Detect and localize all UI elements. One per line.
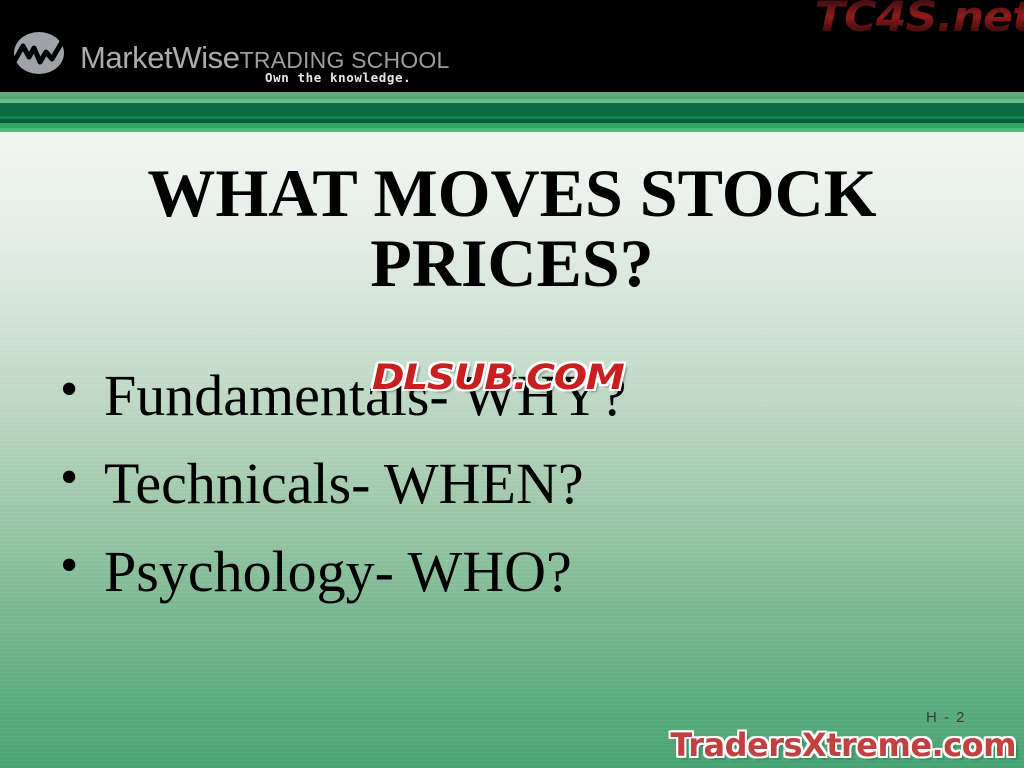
list-item: Psychology- WHO? bbox=[56, 528, 986, 616]
tc4s-watermark: TC4S.net bbox=[814, 0, 1024, 38]
marketwise-chart-logo-icon bbox=[12, 30, 66, 76]
green-stripe-divider bbox=[0, 92, 1024, 136]
page-number: H - 2 bbox=[926, 709, 966, 726]
brand-primary: MarketWise bbox=[80, 40, 240, 75]
presentation-slide: MarketWiseTRADING SCHOOL Own the knowled… bbox=[0, 0, 1024, 768]
page-title: WHAT MOVES STOCK PRICES? bbox=[60, 158, 964, 298]
tradersxtreme-watermark: TradersXtreme.com bbox=[670, 726, 1016, 764]
brand-tagline: Own the knowledge. bbox=[265, 70, 411, 85]
dlsub-watermark: DLSUB.COM bbox=[372, 358, 623, 398]
slide-header: MarketWiseTRADING SCHOOL Own the knowled… bbox=[0, 0, 1024, 92]
list-item: Technicals- WHEN? bbox=[56, 440, 986, 528]
